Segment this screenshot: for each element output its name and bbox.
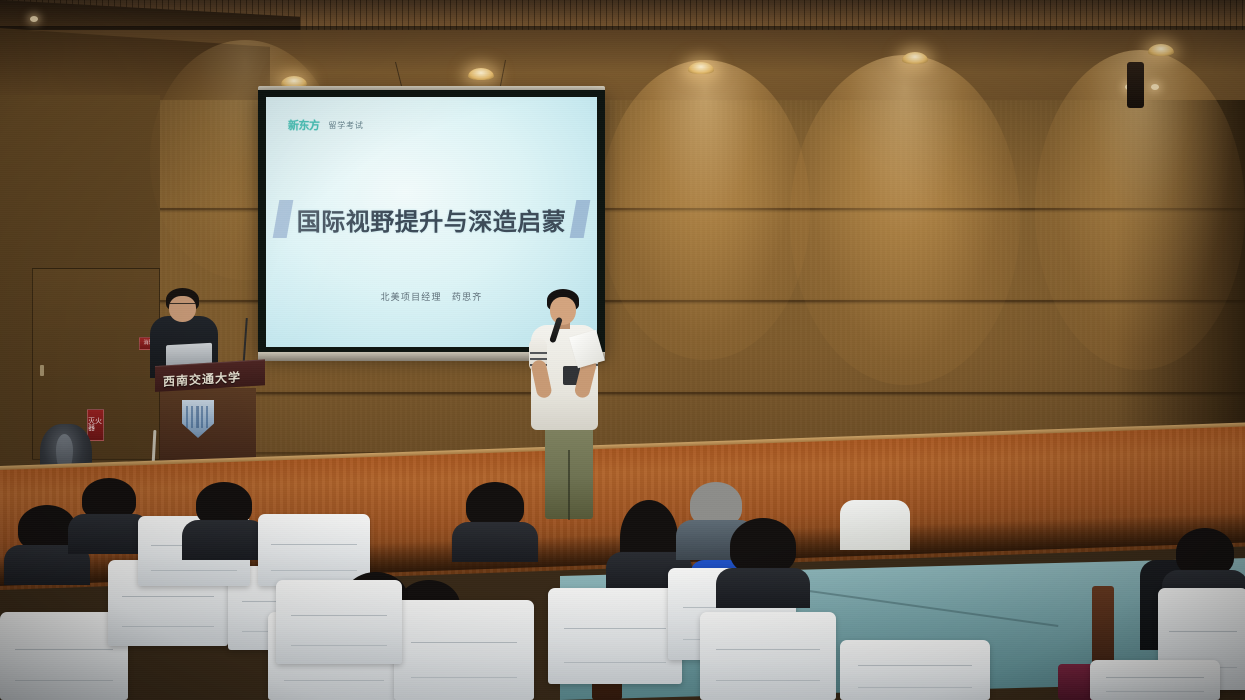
sleeve-stripe-l1 xyxy=(530,352,547,354)
title-accent-bar-right xyxy=(570,200,591,238)
ceiling-lamp-icon-2 xyxy=(468,68,494,80)
ceiling-lamp-icon-3 xyxy=(688,62,714,74)
ceiling-spot-icon-1 xyxy=(30,16,38,22)
fire-extinguisher-sign: 灭火器 xyxy=(87,409,104,441)
brand-subtitle-text: 留学考试 xyxy=(329,120,364,131)
projector-icon xyxy=(1127,62,1144,108)
audience-head xyxy=(1176,528,1234,576)
speaker-face xyxy=(550,297,576,325)
speaker-leg-split xyxy=(568,450,570,520)
audience-shoulders xyxy=(182,520,266,560)
wall-seam-1 xyxy=(0,208,1245,210)
podium-host-face xyxy=(169,296,196,322)
audience-shoulders xyxy=(452,522,538,562)
ceiling-lamp-icon-5 xyxy=(1148,44,1174,56)
projection-screen: 新东方 留学考试 国际视野提升与深造启蒙 北美项目经理 药思齐 xyxy=(266,97,597,347)
door-handle-icon xyxy=(40,365,44,376)
audience-white-shirt xyxy=(840,500,910,550)
brand-mark-text: 新东方 xyxy=(288,117,320,133)
audience-chair-cover xyxy=(276,580,402,664)
ceiling-spot-icon-3 xyxy=(1151,84,1159,90)
audience-shoulders xyxy=(716,568,810,608)
audience-chair-cover xyxy=(1090,660,1220,700)
slide-title: 国际视野提升与深造启蒙 xyxy=(297,202,567,237)
glasses-icon-host xyxy=(169,303,196,309)
slide-brand-logo: 新东方 留学考试 xyxy=(288,117,364,133)
university-crest-detail xyxy=(186,406,210,428)
audience-chair-cover xyxy=(394,600,534,700)
title-accent-bar-left xyxy=(272,200,293,238)
audience-chair-cover xyxy=(258,514,370,586)
audience-head xyxy=(730,518,796,574)
photo-scene: 新东方 留学考试 国际视野提升与深造启蒙 北美项目经理 药思齐 消防 灭火器 西… xyxy=(0,0,1245,700)
audience-chair-cover xyxy=(840,640,990,700)
slide-title-row: 国际视野提升与深造启蒙 xyxy=(266,200,597,238)
ceiling-lamp-icon-4 xyxy=(902,52,928,64)
audience-chair-cover xyxy=(548,588,682,684)
audience-chair-cover xyxy=(700,612,836,700)
